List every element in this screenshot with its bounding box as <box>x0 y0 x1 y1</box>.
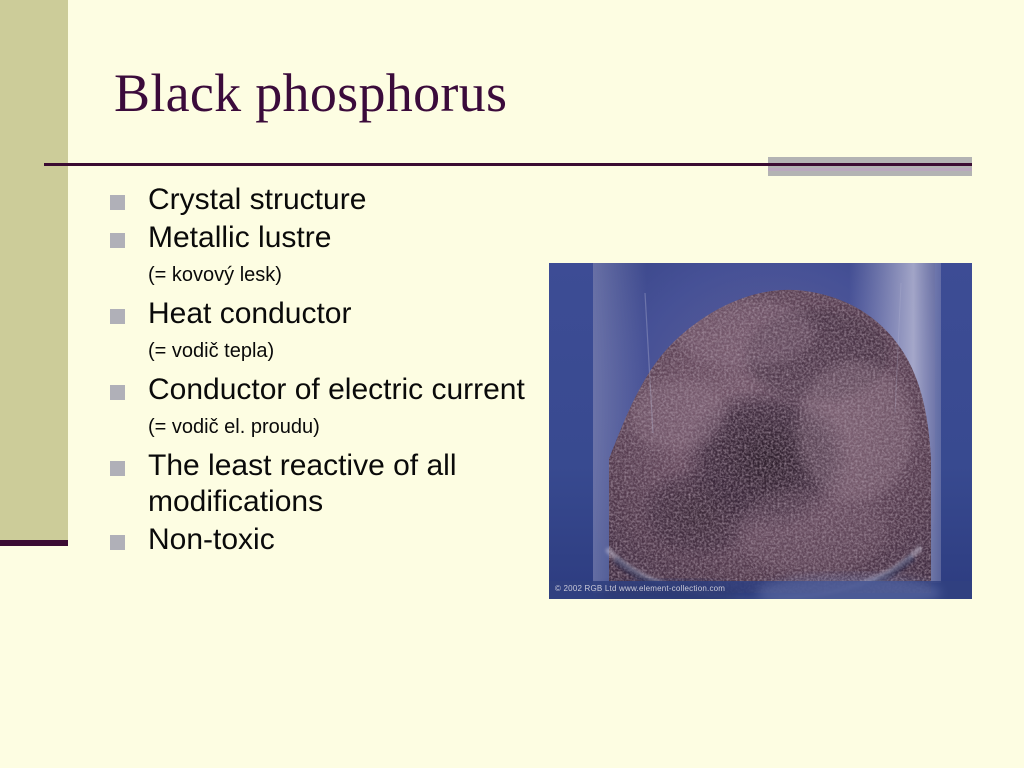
list-item-label: Heat conductor <box>148 296 351 332</box>
bullet-square-icon <box>110 195 125 210</box>
photo-illustration <box>549 263 972 599</box>
slide: Black phosphorus Crystal structure Metal… <box>0 0 1024 768</box>
list-item-translation: (= vodič tepla) <box>148 338 530 364</box>
list-item: Heat conductor <box>110 296 530 332</box>
bullet-list: Crystal structure Metallic lustre (= kov… <box>110 182 530 560</box>
title-underline-rule-light <box>768 168 972 171</box>
list-item-label: Crystal structure <box>148 182 366 218</box>
translation-label: (= vodič el. proudu) <box>148 416 320 438</box>
list-item-translation: (= kovový lesk) <box>148 262 530 288</box>
list-item: Conductor of electric current <box>110 372 530 408</box>
list-item-label: The least reactive of all modifications <box>148 448 530 520</box>
title-accent-block <box>768 157 972 176</box>
translation-label: (= kovový lesk) <box>148 264 282 286</box>
bullet-square-icon <box>110 233 125 248</box>
left-band-rule <box>0 540 68 546</box>
bullet-square-icon <box>110 535 125 550</box>
photo-credit-watermark: © 2002 RGB Ltd www.element-collection.co… <box>555 584 725 593</box>
list-item-label: Non-toxic <box>148 522 275 558</box>
list-item: Crystal structure <box>110 182 530 218</box>
translation-label: (= vodič tepla) <box>148 340 274 362</box>
list-item: Non-toxic <box>110 522 530 558</box>
title-underline-rule <box>44 163 972 166</box>
black-phosphorus-photo: © 2002 RGB Ltd www.element-collection.co… <box>549 263 972 599</box>
bullet-square-icon <box>110 461 125 476</box>
list-item: Metallic lustre <box>110 220 530 256</box>
left-decorative-band <box>0 0 68 540</box>
list-item-translation: (= vodič el. proudu) <box>148 414 530 440</box>
list-item-label: Metallic lustre <box>148 220 331 256</box>
bullet-square-icon <box>110 385 125 400</box>
bullet-square-icon <box>110 309 125 324</box>
list-item: The least reactive of all modifications <box>110 448 530 520</box>
page-title: Black phosphorus <box>114 62 507 124</box>
list-item-label: Conductor of electric current <box>148 372 525 408</box>
